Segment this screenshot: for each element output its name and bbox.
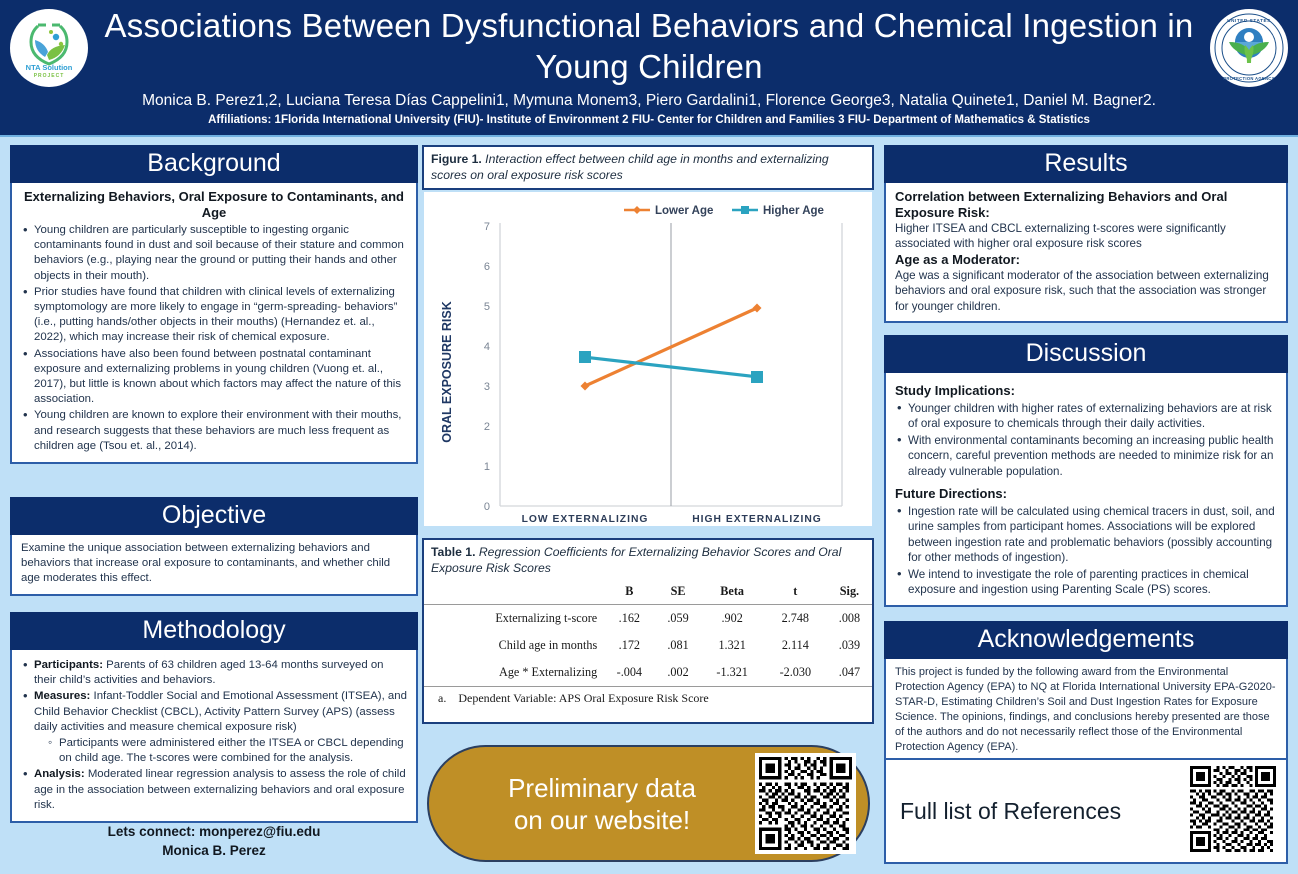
banner-line-1: Preliminary data xyxy=(453,772,751,804)
section-discussion-body: Study Implications: Younger children wit… xyxy=(884,373,1288,607)
discussion-subheading-1: Study Implications: xyxy=(895,383,1277,399)
cell-t: 2.114 xyxy=(764,632,827,659)
methodology-bullet-list: Participants: Parents of 63 children age… xyxy=(21,658,407,813)
figure-1-chart: Lower Age Higher Age ORAL EXPOSURE RISK … xyxy=(422,190,874,528)
background-subheading: Externalizing Behaviors, Oral Exposure t… xyxy=(21,189,407,221)
list-item: Younger children with higher rates of ex… xyxy=(895,401,1277,432)
svg-text:NTA Solution: NTA Solution xyxy=(26,63,73,72)
measures-label: Measures: xyxy=(34,690,90,702)
results-text-1: Higher ITSEA and CBCL externalizing t-sc… xyxy=(895,221,1277,252)
y-axis-ticks: 7 6 5 4 3 2 1 0 xyxy=(484,221,490,513)
section-acknowledgements-body: This project is funded by the following … xyxy=(884,659,1288,764)
objective-text: Examine the unique association between e… xyxy=(21,541,407,587)
list-item: With environmental contaminants becoming… xyxy=(895,433,1277,479)
list-item: Participants: Parents of 63 children age… xyxy=(21,658,407,688)
list-item: Young children are particularly suscepti… xyxy=(21,223,407,284)
cell-sig: .008 xyxy=(827,605,872,633)
svg-text:6: 6 xyxy=(484,261,490,273)
results-subheading-2: Age as a Moderator: xyxy=(895,252,1277,268)
section-objective: Objective Examine the unique association… xyxy=(10,497,418,596)
cell-b: -.004 xyxy=(603,659,655,687)
qr-code-icon xyxy=(759,757,852,850)
row-label: Age * Externalizing xyxy=(424,659,603,687)
row-label: Child age in months xyxy=(424,632,603,659)
section-methodology-body: Participants: Parents of 63 children age… xyxy=(10,650,418,823)
section-acknowledgements-heading: Acknowledgements xyxy=(884,621,1288,659)
epa-seal-graphic: UNITED STATES PROTECTION AGENCY xyxy=(1212,11,1286,85)
table-header-row: B SE Beta t Sig. xyxy=(424,580,872,605)
section-discussion: Discussion Study Implications: Younger c… xyxy=(884,335,1288,607)
discussion-bullet-list-1: Younger children with higher rates of ex… xyxy=(895,401,1277,479)
column-header-se: SE xyxy=(656,580,701,605)
column-header-sig: Sig. xyxy=(827,580,872,605)
contact-block: Lets connect: monperez@fiu.edu Monica B.… xyxy=(10,822,418,860)
section-results-body: Correlation between Externalizing Behavi… xyxy=(884,183,1288,323)
affiliations: Affiliations: 1Florida International Uni… xyxy=(8,113,1290,127)
cell-se: .002 xyxy=(656,659,701,687)
discussion-subheading-2: Future Directions: xyxy=(895,486,1277,502)
svg-text:PROTECTION AGENCY: PROTECTION AGENCY xyxy=(1223,76,1274,81)
svg-text:2: 2 xyxy=(484,421,490,433)
section-objective-heading: Objective xyxy=(10,497,418,535)
figure-1-caption-text: Interaction effect between child age in … xyxy=(431,152,829,182)
results-text-2: Age was a significant moderator of the a… xyxy=(895,268,1277,314)
row-label: Externalizing t-score xyxy=(424,605,603,633)
participants-label: Participants: xyxy=(34,659,103,671)
table-row: Child age in months .172 .081 1.321 2.11… xyxy=(424,632,872,659)
figure-1-caption: Figure 1. Interaction effect between chi… xyxy=(422,145,874,190)
background-bullet-list: Young children are particularly suscepti… xyxy=(21,223,407,454)
svg-text:7: 7 xyxy=(484,221,490,233)
legend-label-higher-age: Higher Age xyxy=(763,205,824,217)
column-header-b: B xyxy=(603,580,655,605)
banner-line-2: on our website! xyxy=(453,804,751,836)
list-item: Analysis: Moderated linear regression an… xyxy=(21,767,407,813)
discussion-bullet-list-2: Ingestion rate will be calculated using … xyxy=(895,504,1277,597)
table-1: B SE Beta t Sig. Externalizing t-score .… xyxy=(422,580,874,724)
qr-code-icon xyxy=(1190,766,1276,852)
section-background-body: Externalizing Behaviors, Oral Exposure t… xyxy=(10,183,418,464)
section-methodology: Methodology Participants: Parents of 63 … xyxy=(10,612,418,823)
column-header-blank xyxy=(424,580,603,605)
column-header-beta: Beta xyxy=(701,580,764,605)
cell-sig: .047 xyxy=(827,659,872,687)
table-1-label: Table 1. xyxy=(431,545,475,559)
references-qr-code[interactable] xyxy=(1190,766,1276,857)
analysis-text: Moderated linear regression analysis to … xyxy=(34,768,406,810)
preliminary-data-text: Preliminary data on our website! xyxy=(453,772,755,836)
section-objective-body: Examine the unique association between e… xyxy=(10,535,418,596)
svg-text:UNITED STATES: UNITED STATES xyxy=(1227,18,1271,23)
figure-1-label: Figure 1. xyxy=(431,152,482,166)
list-item: Participants were administered either th… xyxy=(34,736,407,766)
section-background: Background Externalizing Behaviors, Oral… xyxy=(10,145,418,464)
acknowledgements-text: This project is funded by the following … xyxy=(895,665,1277,755)
footnote-text: Dependent Variable: APS Oral Exposure Ri… xyxy=(458,691,708,705)
results-subheading-1: Correlation between Externalizing Behavi… xyxy=(895,189,1277,221)
cell-b: .172 xyxy=(603,632,655,659)
epa-seal-logo: UNITED STATES PROTECTION AGENCY xyxy=(1210,9,1288,87)
list-item: Young children are known to explore thei… xyxy=(21,408,407,454)
cell-sig: .039 xyxy=(827,632,872,659)
footnote-marker: a. xyxy=(438,691,446,705)
contact-email-line[interactable]: Lets connect: monperez@fiu.edu xyxy=(10,822,418,841)
section-methodology-heading: Methodology xyxy=(10,612,418,650)
svg-text:3: 3 xyxy=(484,381,490,393)
cell-se: .059 xyxy=(656,605,701,633)
cell-se: .081 xyxy=(656,632,701,659)
chart-legend: Lower Age Higher Age xyxy=(624,205,824,217)
cell-beta: .902 xyxy=(701,605,764,633)
cell-beta: -1.321 xyxy=(701,659,764,687)
cell-beta: 1.321 xyxy=(701,632,764,659)
page-title: Associations Between Dysfunctional Behav… xyxy=(100,5,1198,87)
references-banner[interactable]: Full list of References xyxy=(884,758,1288,864)
table-1-caption-text: Regression Coefficients for Externalizin… xyxy=(431,545,841,575)
contact-name-line: Monica B. Perez xyxy=(10,841,418,860)
preliminary-data-banner[interactable]: Preliminary data on our website! xyxy=(427,745,870,862)
table-footnote: a.Dependent Variable: APS Oral Exposure … xyxy=(424,687,872,709)
cell-t: -2.030 xyxy=(764,659,827,687)
measures-sub-list: Participants were administered either th… xyxy=(34,736,407,766)
table-1-caption: Table 1. Regression Coefficients for Ext… xyxy=(422,538,874,583)
list-item: Ingestion rate will be calculated using … xyxy=(895,504,1277,566)
svg-text:5: 5 xyxy=(484,301,490,313)
measures-text: Infant-Toddler Social and Emotional Asse… xyxy=(34,690,407,732)
nta-solution-logo-graphic: NTA Solution PROJECT xyxy=(14,13,84,83)
column-header-t: t xyxy=(764,580,827,605)
y-axis-label: ORAL EXPOSURE RISK xyxy=(440,301,454,442)
poster-root: NTA Solution PROJECT UNITED STATES PROTE… xyxy=(0,0,1298,874)
analysis-label: Analysis: xyxy=(34,768,85,780)
author-list: Monica B. Perez1,2, Luciana Teresa Días … xyxy=(8,92,1290,110)
svg-text:HIGH EXTERNALIZING: HIGH EXTERNALIZING xyxy=(692,514,822,525)
regression-table: B SE Beta t Sig. Externalizing t-score .… xyxy=(424,580,872,687)
list-item: Associations have also been found betwee… xyxy=(21,347,407,408)
svg-text:PROJECT: PROJECT xyxy=(34,73,65,79)
svg-text:0: 0 xyxy=(484,501,490,513)
references-label: Full list of References xyxy=(900,797,1190,825)
interaction-line-chart: Lower Age Higher Age ORAL EXPOSURE RISK … xyxy=(424,192,872,526)
poster-header: NTA Solution PROJECT UNITED STATES PROTE… xyxy=(0,0,1298,137)
section-discussion-heading: Discussion xyxy=(884,335,1288,373)
section-results-heading: Results xyxy=(884,145,1288,183)
table-row: Externalizing t-score .162 .059 .902 2.7… xyxy=(424,605,872,633)
x-axis-ticks: LOW EXTERNALIZING SCORE HIGH EXTERNALIZI… xyxy=(522,514,822,526)
svg-text:LOW EXTERNALIZING: LOW EXTERNALIZING xyxy=(522,514,649,525)
svg-text:4: 4 xyxy=(484,341,490,353)
table-row: Age * Externalizing -.004 .002 -1.321 -2… xyxy=(424,659,872,687)
nta-solution-logo: NTA Solution PROJECT xyxy=(10,9,88,87)
cell-b: .162 xyxy=(603,605,655,633)
website-qr-code[interactable] xyxy=(755,753,856,854)
list-item: Prior studies have found that children w… xyxy=(21,285,407,346)
list-item: Measures: Infant-Toddler Social and Emot… xyxy=(21,689,407,766)
cell-t: 2.748 xyxy=(764,605,827,633)
legend-label-lower-age: Lower Age xyxy=(655,205,713,217)
svg-text:1: 1 xyxy=(484,461,490,473)
list-item: We intend to investigate the role of par… xyxy=(895,567,1277,598)
section-acknowledgements: Acknowledgements This project is funded … xyxy=(884,621,1288,764)
section-results: Results Correlation between Externalizin… xyxy=(884,145,1288,323)
section-background-heading: Background xyxy=(10,145,418,183)
